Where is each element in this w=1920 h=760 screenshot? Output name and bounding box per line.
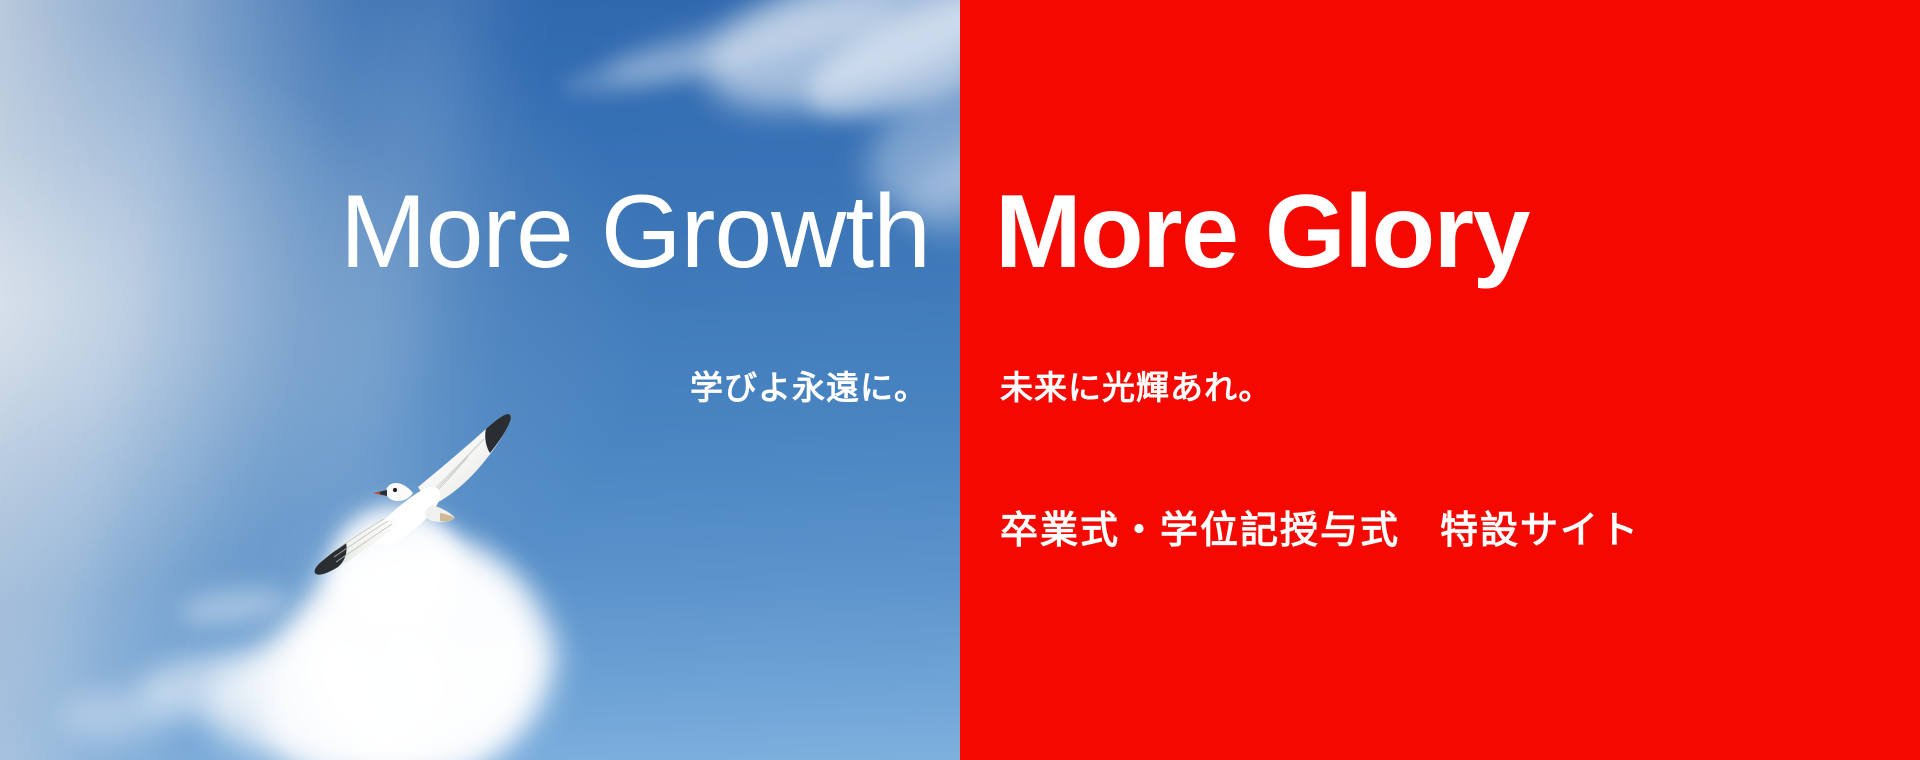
subtitle-left: 学びよ永遠に。: [0, 366, 928, 410]
special-site-label[interactable]: 卒業式・学位記授与式 特設サイト: [1000, 503, 1640, 557]
headline-more-glory: More Glory: [995, 176, 1529, 288]
hero-banner: More Growth More Glory 学びよ永遠に。 未来に光輝あれ。 …: [0, 0, 1920, 760]
subtitle-right: 未来に光輝あれ。: [1000, 366, 1272, 410]
headline-row: More Growth More Glory: [0, 176, 1920, 288]
headline-more-growth: More Growth: [0, 176, 930, 288]
seagull-icon: [300, 395, 530, 595]
